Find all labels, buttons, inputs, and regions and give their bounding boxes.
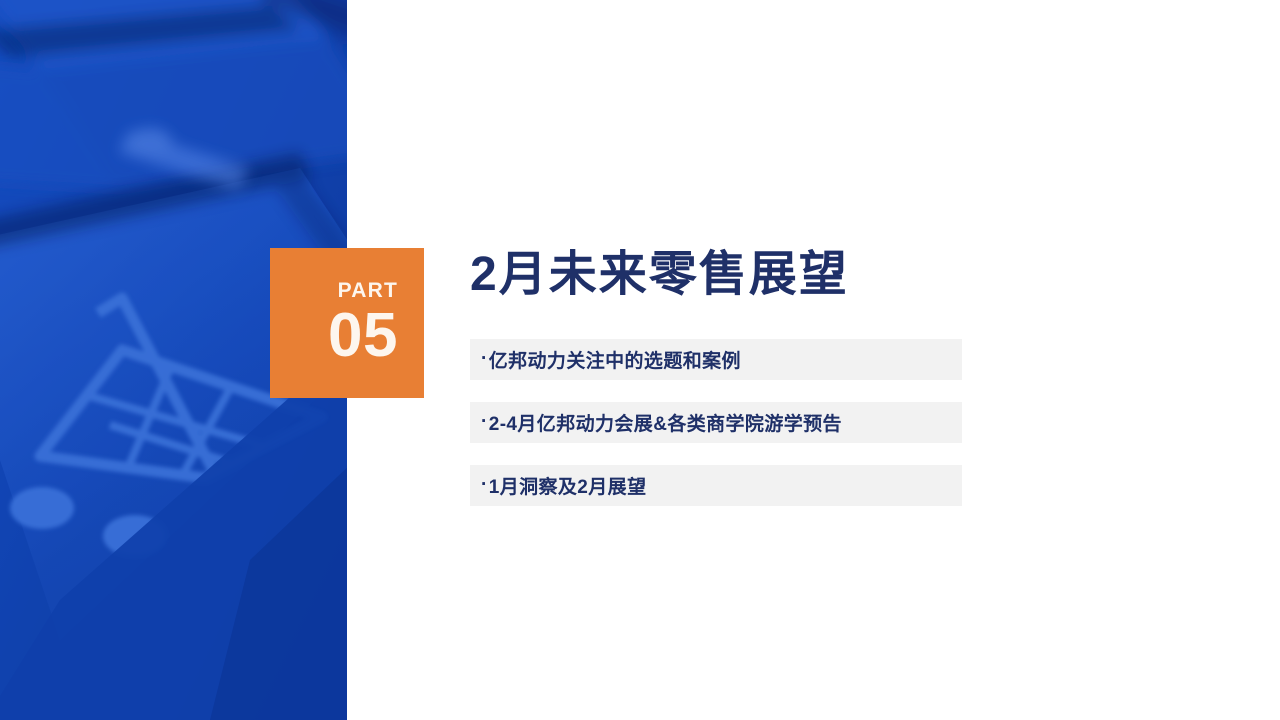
slide-content: 2月未来零售展望 · 亿邦动力关注中的选题和案例 · 2-4月亿邦动力会展&各类… (470, 248, 962, 506)
list-item: · 亿邦动力关注中的选题和案例 (470, 339, 962, 380)
part-label: PART (338, 280, 398, 301)
bullet-marker-icon: · (481, 411, 488, 433)
list-item: · 2-4月亿邦动力会展&各类商学院游学预告 (470, 402, 962, 443)
part-number-badge: PART 05 (270, 248, 424, 398)
list-item-label: 2-4月亿邦动力会展&各类商学院游学预告 (489, 409, 842, 436)
page-title: 2月未来零售展望 (470, 248, 962, 302)
list-item-label: 亿邦动力关注中的选题和案例 (489, 346, 741, 373)
bullet-marker-icon: · (481, 348, 488, 370)
presentation-slide: PART 05 2月未来零售展望 · 亿邦动力关注中的选题和案例 · 2-4月亿… (0, 0, 1280, 720)
list-item: · 1月洞察及2月展望 (470, 465, 962, 506)
list-item-label: 1月洞察及2月展望 (489, 472, 647, 499)
part-number: 05 (328, 307, 398, 366)
bullet-marker-icon: · (481, 474, 488, 496)
agenda-list: · 亿邦动力关注中的选题和案例 · 2-4月亿邦动力会展&各类商学院游学预告 ·… (470, 339, 962, 506)
